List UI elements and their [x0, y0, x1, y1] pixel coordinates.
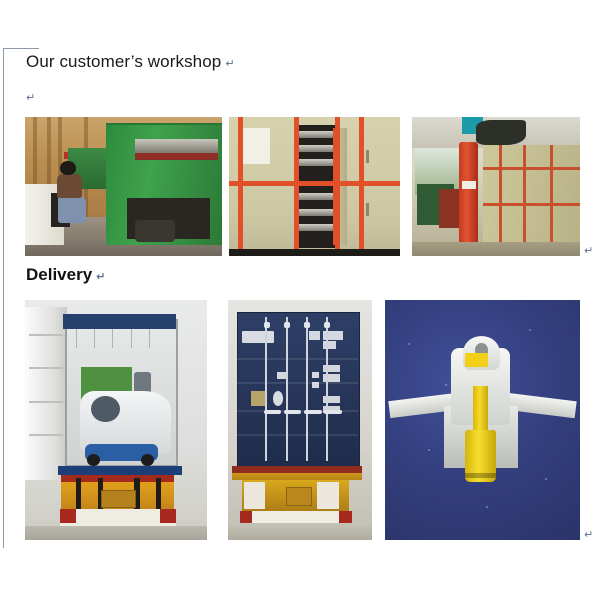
- paragraph-mark-icon: ↵: [584, 528, 593, 541]
- container-prefix-mark: [309, 331, 321, 339]
- container-shipping-line-logo: [242, 331, 274, 343]
- blank-paragraph: ↵: [26, 88, 35, 106]
- margin-corner-mark: [3, 48, 39, 49]
- paragraph-mark-icon: ↵: [92, 270, 105, 283]
- paragraph-mark-icon: ↵: [584, 244, 593, 257]
- image-delivery-container-security-seal[interactable]: [385, 300, 580, 540]
- image-workshop-locker-row-interior[interactable]: [412, 117, 580, 256]
- image-workshop-press-operator[interactable]: [25, 117, 222, 256]
- page-title: Our customer’s workshop↵: [26, 52, 235, 72]
- seal-head: [465, 353, 488, 367]
- left-margin-rule: [3, 48, 4, 548]
- paragraph-mark-icon: ↵: [26, 91, 35, 104]
- section-heading-delivery: Delivery↵: [26, 265, 105, 285]
- image-workshop-locker-cabinets-open[interactable]: [229, 117, 400, 256]
- workshop-heading-text: Our customer’s workshop: [26, 52, 221, 71]
- image-delivery-container-closed-rear[interactable]: [228, 300, 372, 540]
- paragraph-mark-icon: ↵: [221, 57, 234, 70]
- delivery-heading-text: Delivery: [26, 265, 92, 284]
- image-delivery-container-loaded-open[interactable]: [25, 300, 207, 540]
- document-page: Our customer’s workshop↵ ↵: [0, 0, 600, 600]
